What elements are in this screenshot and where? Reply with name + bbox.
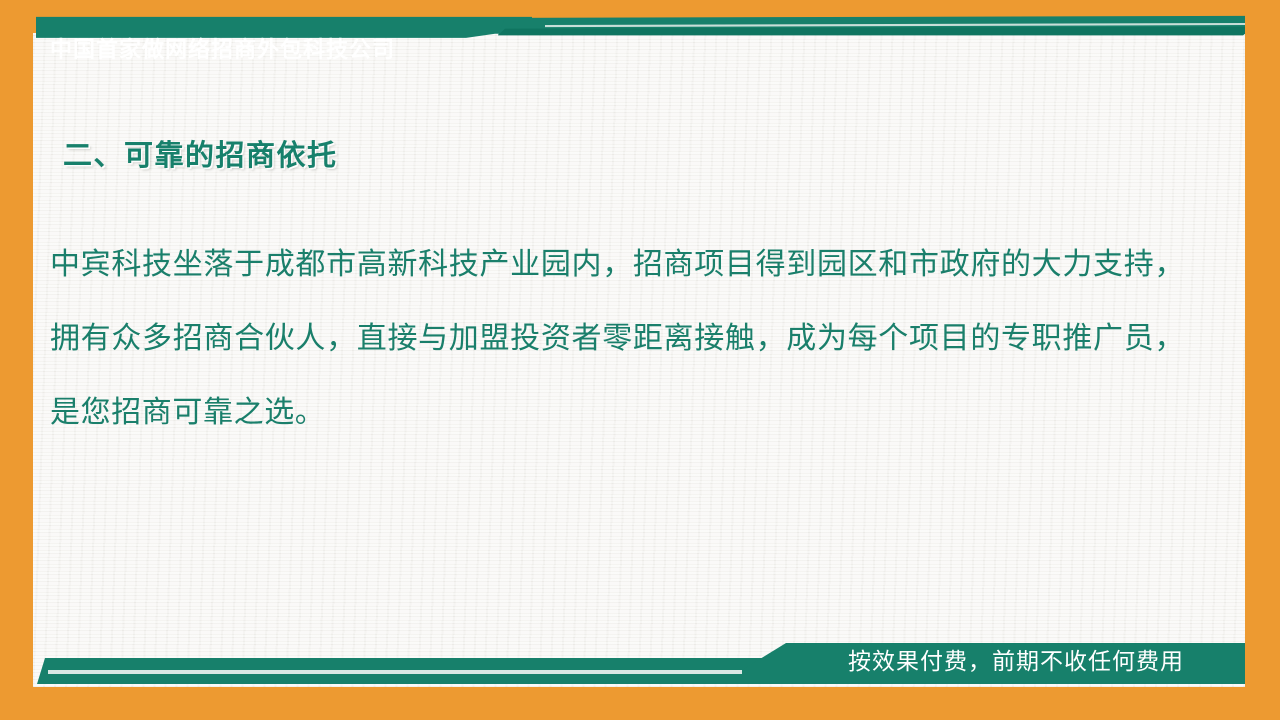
footer-slogan: 按效果付费，前期不收任何费用 xyxy=(848,645,1184,677)
page-title: 二、可靠的招商依托 xyxy=(63,137,338,175)
header-hairline xyxy=(545,23,1245,27)
slide-root: 中国首家做网络招商外包科技公司 二、可靠的招商依托 中宾科技坐落于成都市高新科技… xyxy=(0,0,1280,720)
header-tagline: 中国首家做网络招商外包科技公司 xyxy=(50,36,395,64)
body-paragraph: 中宾科技坐落于成都市高新科技产业园内，招商项目得到园区和市政府的大力支持，拥有众… xyxy=(50,228,1185,450)
